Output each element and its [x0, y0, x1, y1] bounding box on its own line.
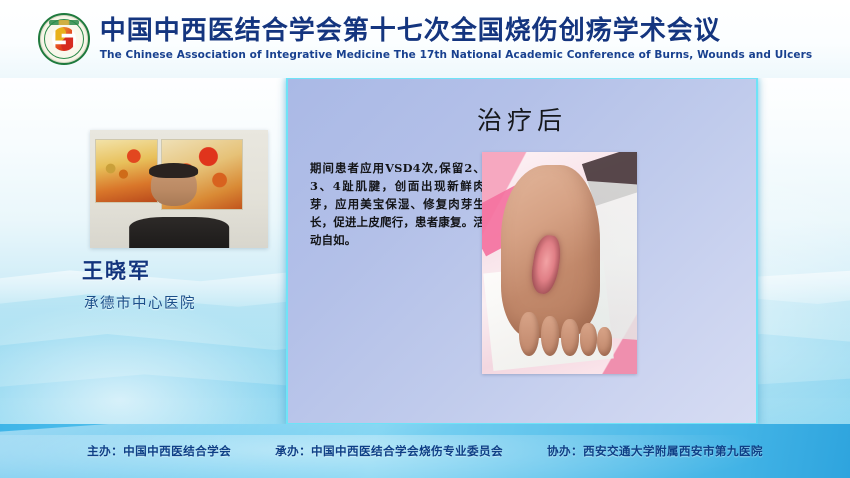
wound-granulation-area	[529, 233, 564, 295]
toe-4	[580, 323, 597, 356]
conference-title-en: The Chinese Association of Integrative M…	[100, 49, 813, 61]
speaker-hair	[149, 163, 199, 178]
speaker-video-feed[interactable]	[90, 130, 268, 248]
slide-body-text: 期间患者应用VSD4次,保留2、3、4趾肌腱，创面出现新鲜肉芽，应用美宝保湿、修…	[310, 159, 485, 249]
speaker-organization: 承德市中心医院	[82, 292, 196, 313]
sponsor-undertaker: 承办：中国中西医结合学会烧伤专业委员会	[275, 443, 503, 459]
speaker-name: 王晓军	[82, 255, 196, 285]
patient-foot	[501, 165, 600, 338]
presentation-slide[interactable]: 治疗后 期间患者应用VSD4次,保留2、3、4趾肌腱，创面出现新鲜肉芽，应用美宝…	[286, 77, 758, 425]
webcast-stage: 中国中西医结合学会第十七次全国烧伤创疡学术会议 The Chinese Asso…	[0, 0, 850, 478]
sponsor-organizer: 主办：中国中西医结合学会	[87, 443, 231, 459]
conference-header: 中国中西医结合学会第十七次全国烧伤创疡学术会议 The Chinese Asso…	[0, 0, 850, 78]
sponsor-footer: 主办：中国中西医结合学会 承办：中国中西医结合学会烧伤专业委员会 协办：西安交通…	[0, 424, 850, 478]
slide-title: 治疗后	[288, 101, 756, 137]
speaker-caption: 王晓军 承德市中心医院	[82, 255, 196, 313]
sponsor-list: 主办：中国中西医结合学会 承办：中国中西医结合学会烧伤专业委员会 协办：西安交通…	[0, 424, 850, 478]
emblem-core-icon	[52, 27, 76, 51]
emblem-banner-icon	[49, 20, 79, 25]
caim-emblem-icon	[38, 13, 90, 65]
speaker-torso	[129, 217, 229, 248]
conference-title-cn: 中国中西医结合学会第十七次全国烧伤创疡学术会议	[100, 17, 721, 45]
sponsor-coorganizer: 协办：西安交通大学附属西安市第九医院	[547, 443, 763, 459]
toe-3	[561, 319, 579, 357]
header-titles: 中国中西医结合学会第十七次全国烧伤创疡学术会议 The Chinese Asso…	[100, 17, 813, 61]
clinical-photo	[482, 152, 637, 374]
